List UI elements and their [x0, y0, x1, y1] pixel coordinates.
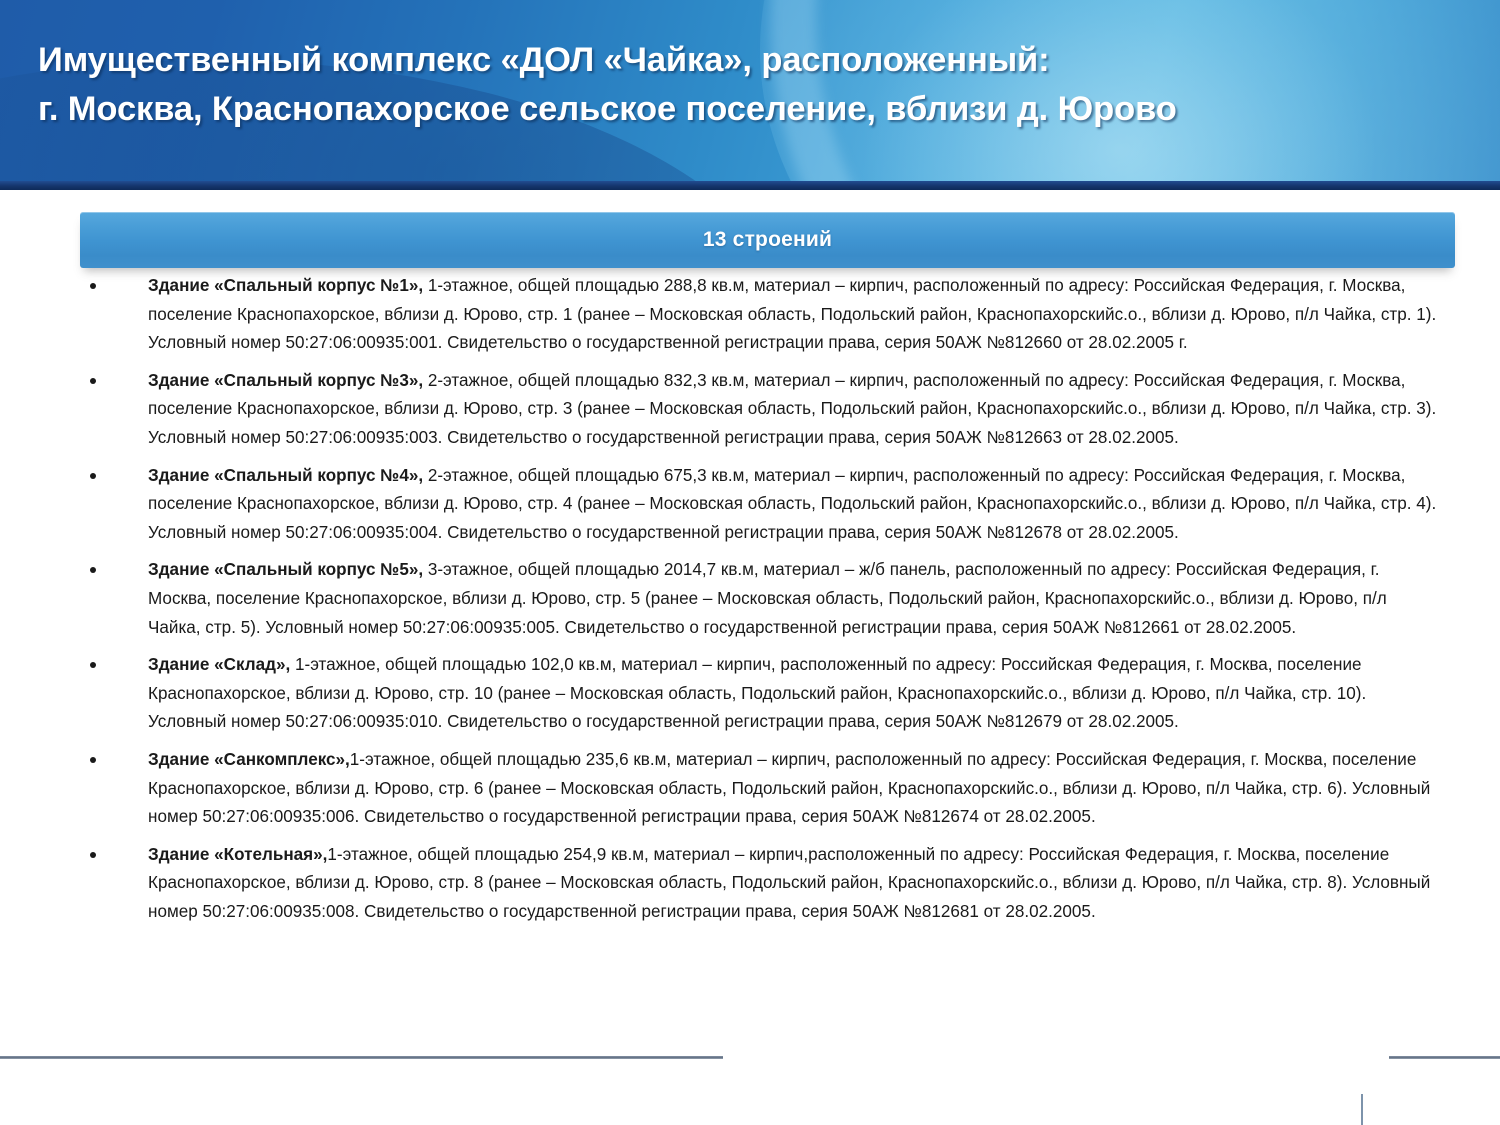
footer-tick-mark	[1361, 1094, 1363, 1125]
building-name: Здание «Санкомплекс»,	[148, 750, 350, 769]
page-title-line-1: Имущественный комплекс «ДОЛ «Чайка», рас…	[38, 36, 1468, 85]
page-title: Имущественный комплекс «ДОЛ «Чайка», рас…	[38, 36, 1468, 134]
footer-rule-left	[0, 1056, 723, 1059]
list-item: Здание «Склад», 1-этажное, общей площадь…	[0, 651, 1500, 737]
page-title-line-2: г. Москва, Краснопахорское сельское посе…	[38, 85, 1468, 134]
footer-rule-right	[1389, 1056, 1500, 1059]
building-name: Здание «Спальный корпус №4»,	[148, 466, 423, 485]
building-name: Здание «Спальный корпус №3»,	[148, 371, 423, 390]
building-name: Здание «Склад»,	[148, 655, 290, 674]
list-item: Здание «Спальный корпус №5», 3-этажное, …	[0, 556, 1500, 642]
list-item: Здание «Котельная»,1-этажное, общей площ…	[0, 841, 1500, 927]
section-banner: 13 строений	[80, 212, 1455, 268]
list-item: Здание «Спальный корпус №1», 1-этажное, …	[0, 272, 1500, 358]
slide-header: Имущественный комплекс «ДОЛ «Чайка», рас…	[0, 0, 1500, 190]
list-item: Здание «Спальный корпус №4», 2-этажное, …	[0, 462, 1500, 548]
slide-footer	[0, 1046, 1500, 1125]
building-name: Здание «Спальный корпус №5»,	[148, 560, 423, 579]
building-details: 1-этажное, общей площадью 254,9 кв.м, ма…	[148, 845, 1430, 921]
building-name: Здание «Спальный корпус №1»,	[148, 276, 423, 295]
slide-content: 13 строений Здание «Спальный корпус №1»,…	[0, 190, 1500, 1125]
section-banner-label: 13 строений	[703, 228, 832, 252]
buildings-list: Здание «Спальный корпус №1», 1-этажное, …	[0, 272, 1500, 935]
building-name: Здание «Котельная»,	[148, 845, 327, 864]
building-details: 1-этажное, общей площадью 102,0 кв.м, ма…	[148, 655, 1366, 731]
list-item: Здание «Санкомплекс»,1-этажное, общей пл…	[0, 746, 1500, 832]
header-bottom-strip	[0, 181, 1500, 190]
list-item: Здание «Спальный корпус №3», 2-этажное, …	[0, 367, 1500, 453]
